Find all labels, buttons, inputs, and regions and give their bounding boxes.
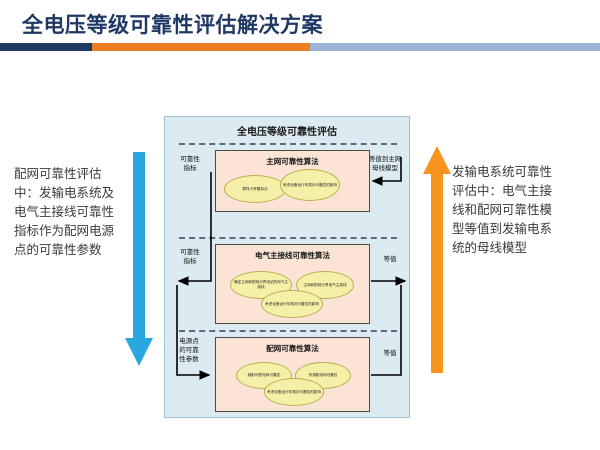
divider-segment-navy	[0, 43, 92, 51]
left-down-arrow-icon	[124, 152, 154, 368]
reliability-diagram-panel: 全电压等级可靠性评估 可靠性指标 等值到主网母线模型	[164, 116, 410, 418]
label-section1-left: 可靠性指标	[173, 155, 207, 173]
algo-box-main-grid: 主网可靠性算法 蒙特卡罗模拟法 考虑设备运行年限对可靠性的影响	[215, 150, 370, 212]
algo-title-main-grid: 主网可靠性算法	[216, 156, 369, 167]
dashed-separator-1	[179, 143, 397, 145]
ellipse-equipment-age-3: 考虑设备运行年限对可靠性的影响	[264, 378, 324, 406]
diagram-title: 全电压等级可靠性评估	[165, 123, 409, 138]
ellipse-equipment-age-1: 考虑设备运行年限对可靠性的影响	[280, 169, 340, 201]
algo-box-distribution: 配网可靠性算法 辐射状配电网可靠性 有源配电网可靠性 考虑设备运行年限对可靠性的…	[215, 337, 370, 412]
dashed-separator-3	[179, 330, 397, 332]
algo-title-main-wiring: 电气主接线可靠性算法	[216, 250, 369, 261]
page-title: 全电压等级可靠性评估解决方案	[22, 9, 323, 39]
label-section3-right: 等值	[375, 349, 405, 358]
label-section2-left: 可靠性指标	[173, 248, 207, 266]
ellipse-monte-carlo: 蒙特卡罗模拟法	[224, 175, 286, 203]
slide-canvas: 全电压等级可靠性评估解决方案 配网可靠性评估中：发输电系统及电气主接线可靠性指标…	[0, 0, 600, 450]
right-note-text: 发输电系统可靠性评估中：电气主接线和配网可靠性模型等值到发输电系统的母线模型	[452, 162, 562, 257]
algo-title-distribution: 配网可靠性算法	[216, 343, 369, 354]
label-section3-left: 电源点的可靠性参数	[170, 337, 208, 364]
divider-segment-orange	[92, 43, 310, 51]
algo-box-main-wiring: 电气主接线可靠性算法 确定主网和配网分界电站的电气主接线 主网和配网分界电气主接…	[215, 244, 370, 324]
left-note-text: 配网可靠性评估中：发输电系统及电气主接线可靠性指标作为配网电源点的可靠性参数	[14, 164, 118, 259]
dashed-separator-2	[179, 237, 397, 239]
divider-segment-blue	[310, 43, 600, 51]
label-section2-right: 等值	[375, 255, 405, 264]
right-up-arrow-icon	[422, 146, 452, 374]
ellipse-equipment-age-2: 考虑设备运行年限对可靠性的影响	[261, 290, 323, 318]
